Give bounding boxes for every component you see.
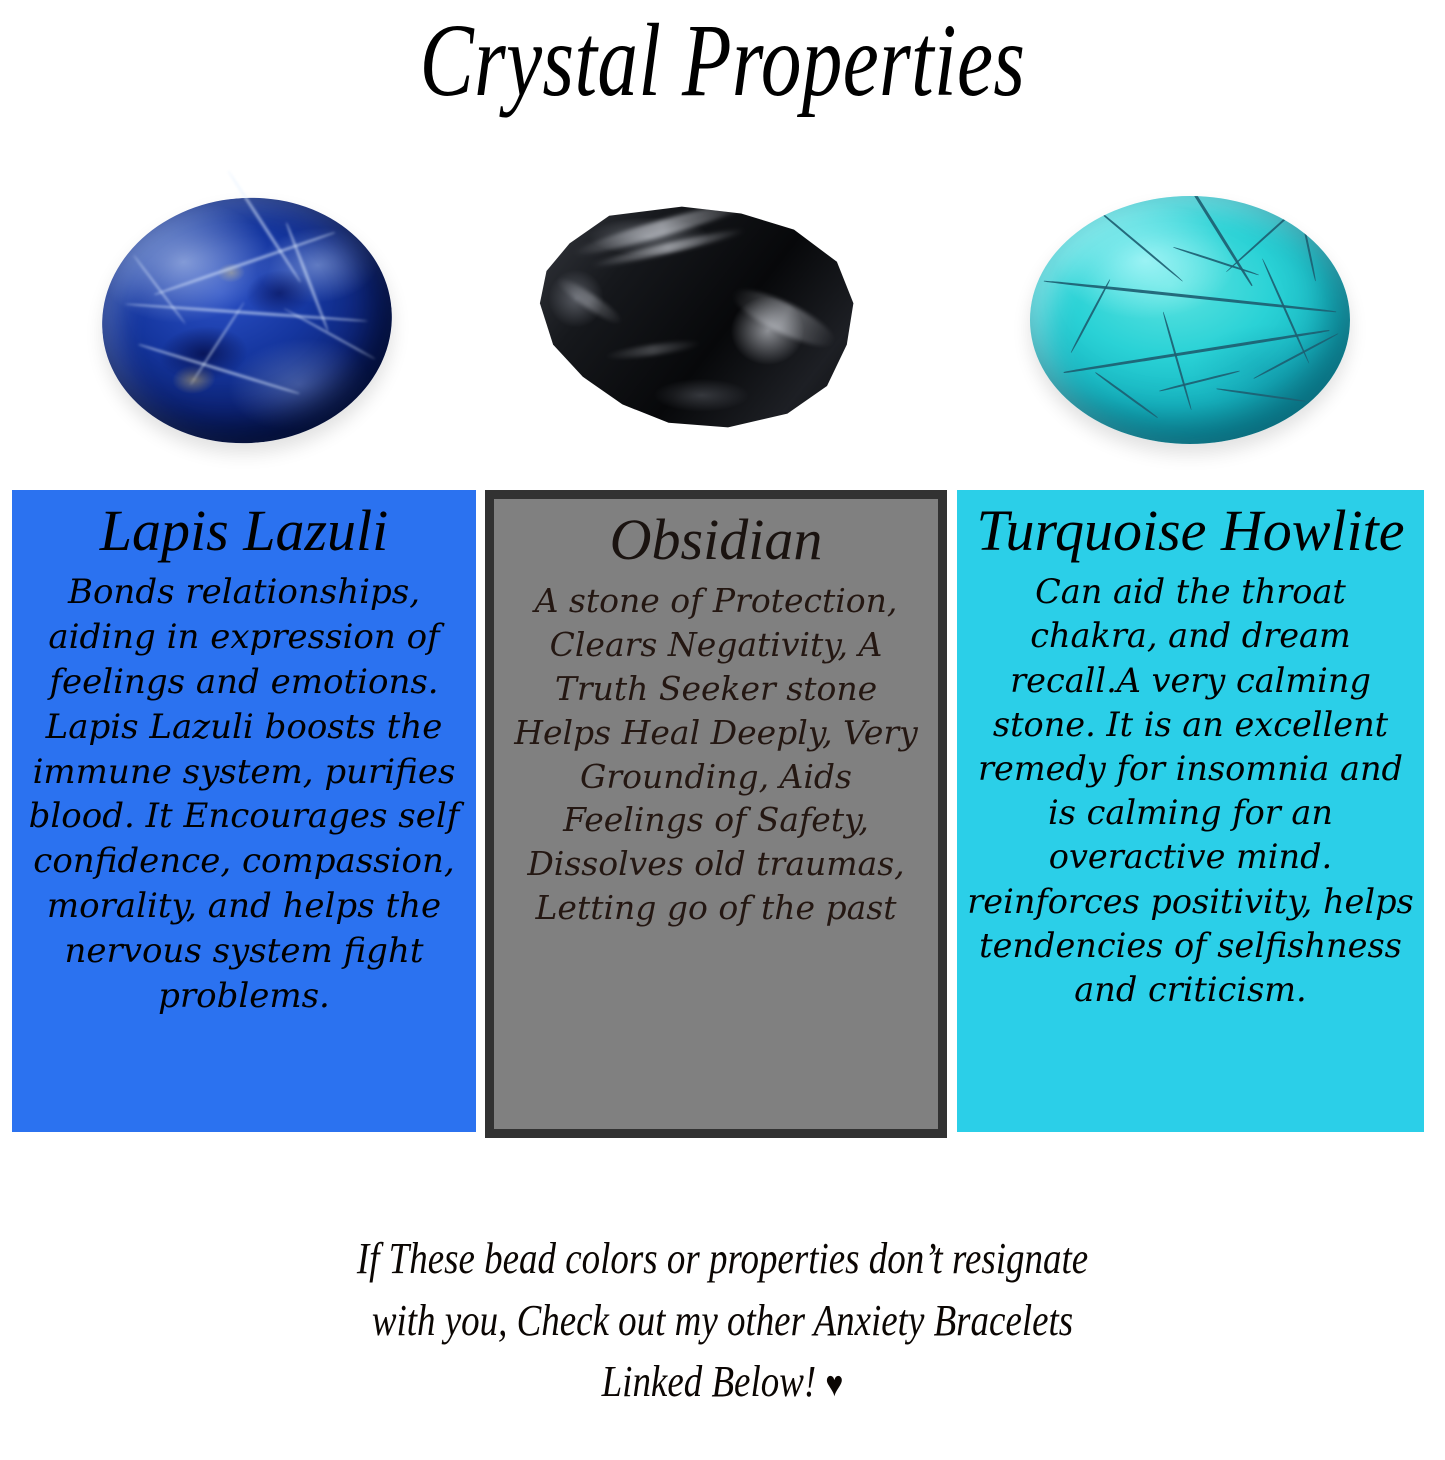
- stone-image-turquoise-howlite: [958, 170, 1428, 470]
- lapis-lazuli-stone-graphic: [92, 186, 402, 455]
- property-card-lapis-lazuli: Lapis Lazuli Bonds relationships, aiding…: [12, 490, 476, 1132]
- page-title: Crystal Properties: [159, 6, 1286, 115]
- obsidian-sheen: [553, 273, 626, 329]
- obsidian-stone-graphic: [530, 202, 860, 432]
- stone-image-lapis-lazuli: [6, 170, 476, 470]
- footer-line-3: Linked Below! ♥: [116, 1351, 1330, 1413]
- turquoise-matrix-vein: [1159, 369, 1240, 391]
- turquoise-matrix-vein: [1043, 280, 1336, 314]
- obsidian-sheen: [727, 280, 841, 356]
- card-body-obsidian: A stone of Protection, Clears Negativity…: [506, 579, 926, 930]
- card-heading-obsidian: Obsidian: [506, 507, 926, 573]
- turquoise-matrix-vein: [1162, 311, 1192, 410]
- turquoise-matrix-vein: [1261, 258, 1310, 364]
- obsidian-sheen: [602, 338, 701, 362]
- lapis-vein: [138, 343, 300, 395]
- turquoise-howlite-stone-graphic: [1030, 196, 1350, 444]
- property-card-turquoise-howlite: Turquoise Howlite Can aid the throat cha…: [957, 490, 1424, 1132]
- lapis-vein: [133, 254, 187, 325]
- turquoise-matrix-vein: [1216, 388, 1305, 402]
- card-heading-lapis-lazuli: Lapis Lazuli: [26, 498, 462, 564]
- turquoise-matrix-vein: [1173, 247, 1259, 277]
- card-body-turquoise-howlite: Can aid the throat chakra, and dream rec…: [967, 570, 1414, 1012]
- heart-icon: ♥: [825, 1364, 843, 1404]
- turquoise-matrix-vein: [1300, 212, 1317, 281]
- footer-note: If These bead colors or properties don’t…: [116, 1228, 1330, 1413]
- stone-image-obsidian: [482, 170, 952, 470]
- card-heading-turquoise-howlite: Turquoise Howlite: [967, 498, 1414, 564]
- footer-line-2: with you, Check out my other Anxiety Bra…: [116, 1290, 1330, 1352]
- card-body-lapis-lazuli: Bonds relationships, aiding in expressio…: [26, 570, 462, 1019]
- stone-image-row: [0, 170, 1445, 470]
- turquoise-matrix-vein: [1070, 279, 1111, 353]
- property-card-obsidian: Obsidian A stone of Protection, Clears N…: [485, 490, 947, 1138]
- turquoise-matrix-vein: [1088, 202, 1183, 282]
- turquoise-matrix-vein: [1063, 329, 1329, 374]
- footer-line-3-text: Linked Below!: [602, 1357, 817, 1406]
- footer-line-1: If These bead colors or properties don’t…: [116, 1228, 1330, 1290]
- turquoise-matrix-vein: [1094, 372, 1157, 419]
- lapis-vein: [284, 308, 376, 360]
- lapis-vein: [125, 302, 368, 322]
